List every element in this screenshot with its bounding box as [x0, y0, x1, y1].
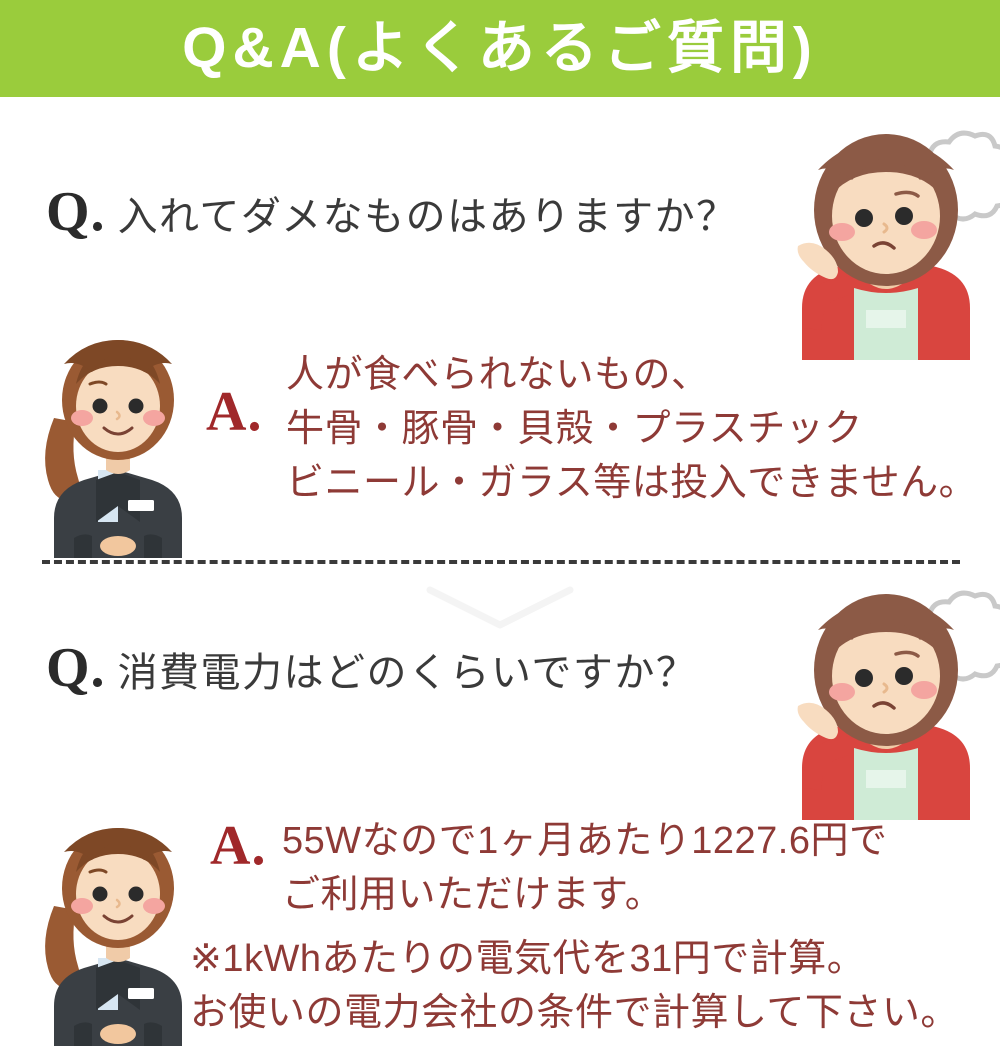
question-mark-2: Q. [46, 640, 106, 696]
question-row-1: Q. 入れてダメなものはありますか？ [46, 184, 738, 240]
thinking-woman-illustration-2 [778, 588, 1000, 820]
staff-woman-illustration-1 [32, 332, 204, 558]
question-mark-1: Q. [46, 184, 106, 240]
note-line: お使いの電力会社の条件で計算して下さい。 [190, 986, 959, 1040]
answer-note-2: ※1kWhあたりの電気代を31円で計算。 お使いの電力会社の条件で計算して下さい… [190, 932, 959, 1040]
page-title: Q&A(よくあるご質問) [182, 20, 818, 77]
answer-line: ご利用いただけます。 [282, 868, 888, 922]
staff-woman-illustration-2 [32, 820, 204, 1046]
answer-mark-2: A. [210, 818, 266, 874]
answer-line: 牛骨・豚骨・貝殻・プラスチック [286, 402, 977, 456]
answer-line: ビニール・ガラス等は投入できません。 [286, 456, 977, 510]
answer-line: 55Wなので1ヶ月あたり1227.6円で [282, 814, 888, 868]
question-text-1: 入れてダメなものはありますか？ [118, 197, 738, 237]
thinking-woman-illustration-1 [778, 128, 1000, 360]
question-text-2: 消費電力はどのくらいですか？ [118, 653, 698, 693]
answer-line: 人が食べられないもの、 [286, 348, 977, 402]
answer-text-2: 55Wなので1ヶ月あたり1227.6円で ご利用いただけます。 [282, 814, 888, 922]
header-band: Q&A(よくあるご質問) [0, 0, 1000, 97]
section-divider [42, 560, 960, 564]
note-line: ※1kWhあたりの電気代を31円で計算。 [190, 932, 959, 986]
answer-mark-1: A. [206, 384, 262, 440]
question-row-2: Q. 消費電力はどのくらいですか？ [46, 640, 697, 696]
answer-text-1: 人が食べられないもの、 牛骨・豚骨・貝殻・プラスチック ビニール・ガラス等は投入… [286, 348, 977, 510]
chevron-down-icon [425, 585, 575, 631]
